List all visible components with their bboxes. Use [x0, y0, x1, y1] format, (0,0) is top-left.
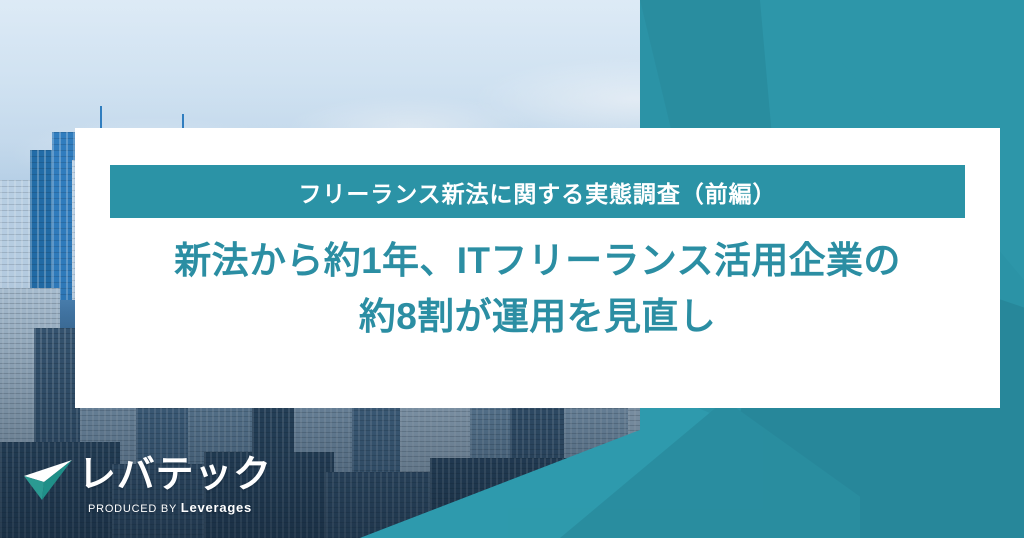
headline-line-1: 新法から約1年、ITフリーランス活用企業の	[75, 233, 1000, 289]
survey-label-band: フリーランス新法に関する実態調査（前編）	[110, 165, 965, 218]
brand-logo: レバテック PRODUCED BY Leverages	[22, 450, 232, 522]
content-card: フリーランス新法に関する実態調査（前編） 新法から約1年、ITフリーランス活用企…	[75, 128, 1000, 408]
levtech-paper-plane-icon	[22, 456, 74, 504]
headline-line-2: 約8割が運用を見直し	[75, 289, 1000, 345]
promotional-banner: フリーランス新法に関する実態調査（前編） 新法から約1年、ITフリーランス活用企…	[0, 0, 1024, 538]
logo-wordmark: レバテック	[78, 450, 272, 500]
logo-tagline-prefix: PRODUCED BY	[88, 503, 177, 515]
page-title: 新法から約1年、ITフリーランス活用企業の 約8割が運用を見直し	[75, 233, 1000, 344]
logo-tagline-brand: Leverages	[181, 500, 252, 515]
logo-tagline: PRODUCED BY Leverages	[88, 500, 252, 515]
